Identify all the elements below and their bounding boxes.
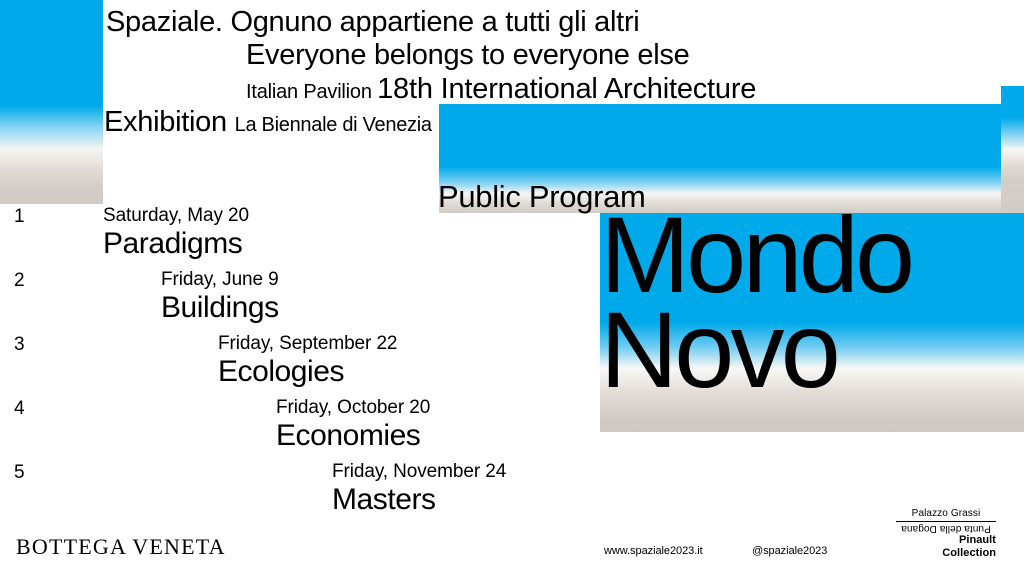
program-title: Ecologies: [218, 357, 344, 387]
program-number: 4: [14, 399, 25, 418]
biennale-title-part1: 18th International Architecture: [377, 73, 756, 105]
program-title: Masters: [332, 485, 436, 515]
biennale-title-part2: Exhibition: [104, 106, 227, 138]
institution-collection: Collection: [896, 547, 996, 560]
poster-canvas: Spaziale. Ognuno appartiene a tutti gli …: [0, 0, 1024, 576]
program-row: 3 Friday, September 22 Ecologies: [0, 331, 620, 395]
program-number: 3: [14, 335, 25, 354]
footer-website-link[interactable]: www.spaziale2023.it: [604, 546, 703, 557]
program-date: Friday, September 22: [218, 334, 397, 353]
institution-punta-della-dogana: Punta della Dogana: [896, 522, 996, 534]
headline-line-italian: Spaziale. Ognuno appartiene a tutti gli …: [106, 8, 639, 37]
gradient-bar-left: [0, 0, 103, 204]
program-date: Friday, June 9: [161, 270, 279, 289]
program-number: 5: [14, 463, 25, 482]
program-number: 2: [14, 271, 25, 290]
program-row: 4 Friday, October 20 Economies: [0, 395, 620, 459]
footer-social-handle[interactable]: @spaziale2023: [752, 546, 827, 557]
sponsor-logo-bottega-veneta: BOTTEGA VENETA: [16, 536, 226, 558]
program-title: Economies: [276, 421, 420, 451]
wordmark-line-1: Mondo: [600, 207, 1024, 302]
headline-line-exhibition: Exhibition La Biennale di Venezia: [104, 108, 432, 137]
program-date: Saturday, May 20: [103, 206, 249, 225]
program-title: Buildings: [161, 293, 279, 323]
institution-palazzo-grassi: Palazzo Grassi: [896, 508, 996, 520]
institution-pinault: Pinault: [896, 534, 996, 547]
program-date: Friday, October 20: [276, 398, 430, 417]
program-row: 5 Friday, November 24 Masters: [0, 459, 620, 523]
headline-line-english: Everyone belongs to everyone else: [246, 41, 689, 70]
program-row: 2 Friday, June 9 Buildings: [0, 267, 620, 331]
biennale-venue: La Biennale di Venezia: [235, 114, 432, 136]
program-number: 1: [14, 207, 25, 226]
gradient-band-right-edge: [1001, 86, 1024, 213]
pavilion-label: Italian Pavilion: [246, 81, 372, 103]
wordmark-mondo-novo: Mondo Novo: [600, 207, 1024, 397]
program-list: 1 Saturday, May 20 Paradigms 2 Friday, J…: [0, 203, 620, 523]
wordmark-line-2: Novo: [600, 302, 1024, 397]
program-date: Friday, November 24: [332, 462, 506, 481]
institution-logo-pinault-collection: Palazzo Grassi Punta della Dogana Pinaul…: [896, 508, 996, 560]
program-row: 1 Saturday, May 20 Paradigms: [0, 203, 620, 267]
program-title: Paradigms: [103, 229, 242, 259]
headline-line-pavilion: Italian Pavilion 18th International Arch…: [246, 75, 756, 104]
